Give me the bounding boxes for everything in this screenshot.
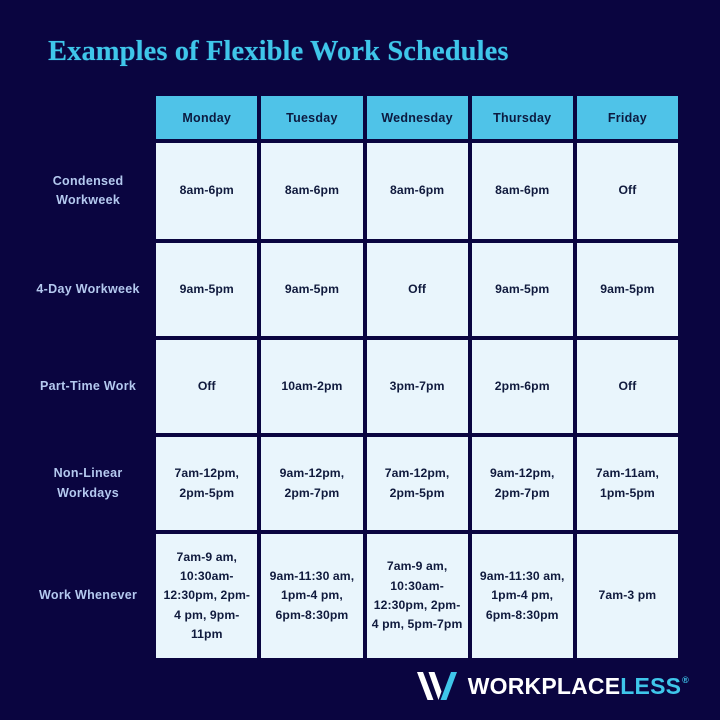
column-header-thursday: Thursday	[472, 96, 573, 139]
cell-condensed-friday: Off	[577, 143, 678, 239]
workplaceless-w-icon	[417, 670, 457, 702]
brand-name-secondary: LESS	[620, 675, 681, 698]
table-body: Condensed Workweek 8am-6pm 8am-6pm 8am-6…	[24, 143, 678, 658]
cell-4day-thursday: 9am-5pm	[472, 243, 573, 336]
row-label-non-linear-workdays: Non-Linear Workdays	[24, 437, 152, 530]
cell-whenever-monday: 7am-9 am, 10:30am-12:30pm, 2pm-4 pm, 9pm…	[156, 534, 257, 658]
cell-condensed-thursday: 8am-6pm	[472, 143, 573, 239]
cell-4day-tuesday: 9am-5pm	[261, 243, 362, 336]
cell-nonlinear-wednesday: 7am-12pm, 2pm-5pm	[367, 437, 468, 530]
infographic-canvas: Examples of Flexible Work Schedules Mond…	[0, 0, 720, 720]
cell-condensed-monday: 8am-6pm	[156, 143, 257, 239]
cell-parttime-thursday: 2pm-6pm	[472, 340, 573, 433]
cell-4day-monday: 9am-5pm	[156, 243, 257, 336]
cell-whenever-friday: 7am-3 pm	[577, 534, 678, 658]
cell-4day-wednesday: Off	[367, 243, 468, 336]
cell-nonlinear-tuesday: 9am-12pm, 2pm-7pm	[261, 437, 362, 530]
cell-condensed-tuesday: 8am-6pm	[261, 143, 362, 239]
table-row-4-day-workweek: 4-Day Workweek 9am-5pm 9am-5pm Off 9am-5…	[24, 243, 678, 336]
row-label-work-whenever: Work Whenever	[24, 534, 152, 658]
brand-name-primary: WORKPLACE	[468, 675, 621, 698]
cell-4day-friday: 9am-5pm	[577, 243, 678, 336]
table-row-non-linear-workdays: Non-Linear Workdays 7am-12pm, 2pm-5pm 9a…	[24, 437, 678, 530]
cell-condensed-wednesday: 8am-6pm	[367, 143, 468, 239]
table-row-work-whenever: Work Whenever 7am-9 am, 10:30am-12:30pm,…	[24, 534, 678, 658]
brand-wordmark: WORKPLACELESS®	[468, 675, 689, 698]
column-header-friday: Friday	[577, 96, 678, 139]
table-row-part-time-work: Part-Time Work Off 10am-2pm 3pm-7pm 2pm-…	[24, 340, 678, 433]
cell-parttime-friday: Off	[577, 340, 678, 433]
table-header: Monday Tuesday Wednesday Thursday Friday	[24, 96, 678, 139]
registered-trademark-icon: ®	[682, 676, 689, 685]
schedule-table-container: Monday Tuesday Wednesday Thursday Friday…	[20, 92, 682, 662]
page-title: Examples of Flexible Work Schedules	[48, 36, 509, 68]
cell-whenever-wednesday: 7am-9 am, 10:30am-12:30pm, 2pm-4 pm, 5pm…	[367, 534, 468, 658]
table-corner-cell	[24, 96, 152, 139]
cell-whenever-thursday: 9am-11:30 am, 1pm-4 pm, 6pm-8:30pm	[472, 534, 573, 658]
row-label-condensed-workweek: Condensed Workweek	[24, 143, 152, 239]
cell-parttime-tuesday: 10am-2pm	[261, 340, 362, 433]
column-header-tuesday: Tuesday	[261, 96, 362, 139]
cell-parttime-wednesday: 3pm-7pm	[367, 340, 468, 433]
cell-parttime-monday: Off	[156, 340, 257, 433]
column-header-monday: Monday	[156, 96, 257, 139]
table-row-condensed-workweek: Condensed Workweek 8am-6pm 8am-6pm 8am-6…	[24, 143, 678, 239]
cell-nonlinear-monday: 7am-12pm, 2pm-5pm	[156, 437, 257, 530]
row-label-4-day-workweek: 4-Day Workweek	[24, 243, 152, 336]
cell-whenever-tuesday: 9am-11:30 am, 1pm-4 pm, 6pm-8:30pm	[261, 534, 362, 658]
cell-nonlinear-friday: 7am-11am, 1pm-5pm	[577, 437, 678, 530]
table-header-row: Monday Tuesday Wednesday Thursday Friday	[24, 96, 678, 139]
row-label-part-time-work: Part-Time Work	[24, 340, 152, 433]
cell-nonlinear-thursday: 9am-12pm, 2pm-7pm	[472, 437, 573, 530]
column-header-wednesday: Wednesday	[367, 96, 468, 139]
schedule-table: Monday Tuesday Wednesday Thursday Friday…	[20, 92, 682, 662]
brand-logo: WORKPLACELESS®	[417, 670, 689, 702]
